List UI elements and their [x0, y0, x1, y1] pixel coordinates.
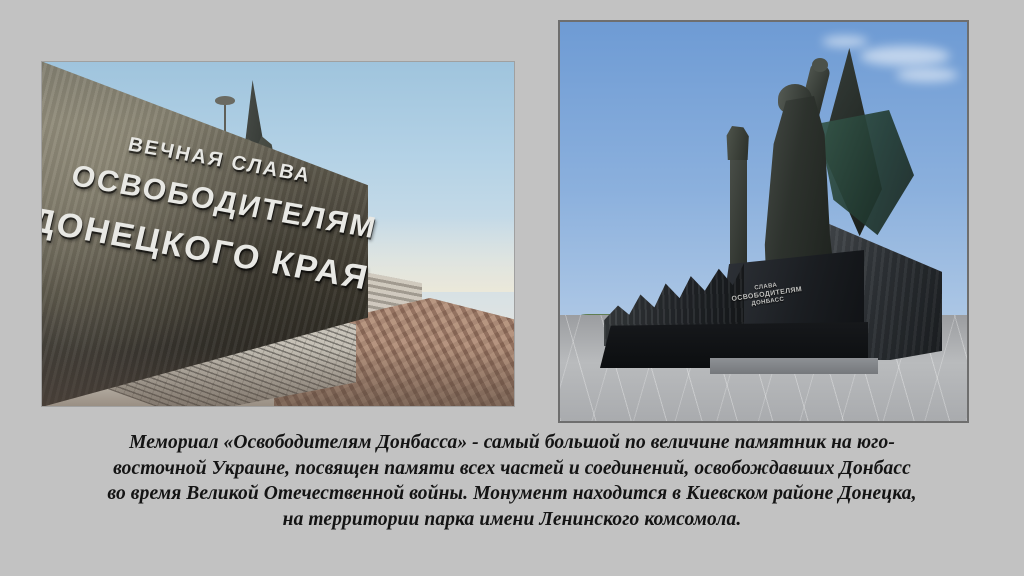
foreground-shadow — [42, 346, 514, 406]
caption-line-4: на территории парка имени Ленинского ком… — [46, 507, 978, 533]
slide-caption: Мемориал «Освободителям Донбасса» - самы… — [46, 430, 978, 532]
caption-line-1: Мемориал «Освободителям Донбасса» - самы… — [46, 430, 978, 456]
cloud-wisp — [860, 46, 950, 66]
photo-monument-liberators: СЛАВА ОСВОБОДИТЕЛЯМ ДОНБАСС — [560, 22, 967, 421]
lamp-post-head — [215, 96, 235, 105]
cloud-wisp — [896, 68, 958, 82]
presentation-slide: ВЕЧНАЯ СЛАВА ОСВОБОДИТЕЛЯМ ДОНЕЦКОГО КРА… — [0, 0, 1024, 576]
caption-line-2: восточной Украине, посвящен памяти всех … — [46, 456, 978, 482]
photo-memorial-wall-content: ВЕЧНАЯ СЛАВА ОСВОБОДИТЕЛЯМ ДОНЕЦКОГО КРА… — [42, 62, 514, 406]
photo-memorial-wall: ВЕЧНАЯ СЛАВА ОСВОБОДИТЕЛЯМ ДОНЕЦКОГО КРА… — [42, 62, 514, 406]
monument-base-step — [710, 358, 878, 374]
caption-line-3: во время Великой Отечественной войны. Мо… — [46, 481, 978, 507]
cloud-wisp — [822, 36, 868, 47]
photo-monument-content: СЛАВА ОСВОБОДИТЕЛЯМ ДОНБАСС — [560, 22, 967, 421]
soldier-hand — [812, 58, 828, 72]
